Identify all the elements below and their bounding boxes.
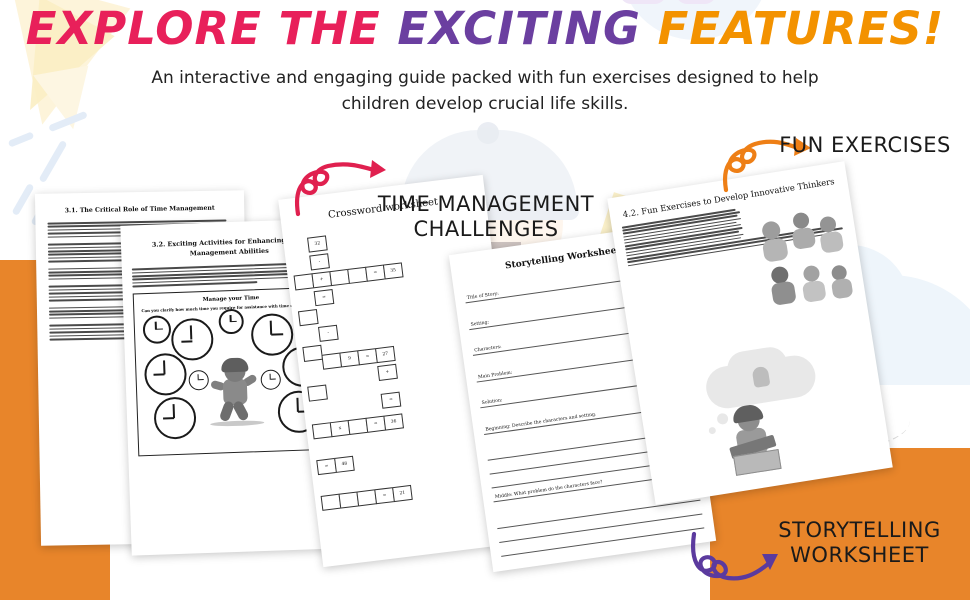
page-subtitle: An interactive and engaging guide packed… (115, 66, 855, 117)
doc-heading: 3.1. The Critical Role of Time Managemen… (47, 204, 232, 214)
clock-icon (260, 369, 281, 390)
dash-decor-2 (8, 131, 35, 147)
running-child-illustration (212, 360, 258, 423)
crossword-cell[interactable]: 27 (375, 346, 396, 363)
field-label: Characters: (474, 345, 502, 354)
thinking-child-illustration (687, 349, 852, 481)
title-segment-3: FEATURES! (658, 2, 945, 55)
clock-icon (218, 308, 244, 334)
callout-time-management: TIME MANAGEMENT CHALLENGES (350, 192, 622, 242)
crossword-cell[interactable]: 48 (334, 456, 355, 473)
crossword-cell[interactable]: 35 (383, 262, 404, 279)
clock-icon (144, 352, 187, 395)
dash-decor-4 (11, 183, 34, 216)
callout-fun-exercises: FUN EXERCISES (765, 133, 965, 158)
field-label: Solution: (481, 398, 502, 406)
clock-icon (250, 313, 293, 356)
crossword-cell[interactable]: = (381, 392, 402, 409)
crossword-cell[interactable] (302, 345, 323, 362)
crossword-cell[interactable] (298, 309, 319, 326)
kids-illustration-group (758, 206, 858, 314)
crossword-cell[interactable]: = (314, 289, 335, 306)
callout-storytelling: STORYTELLING WORKSHEET (752, 518, 967, 568)
dash-decor-1 (48, 111, 88, 132)
crossword-cell[interactable]: 36 (383, 413, 404, 430)
clock-icon (188, 370, 209, 391)
crossword-cell[interactable]: - (309, 253, 330, 270)
clock-icon (142, 315, 171, 344)
crossword-cell[interactable]: - (318, 325, 339, 342)
crossword-cell[interactable] (307, 384, 328, 401)
clock-icon (153, 396, 196, 439)
title-segment-1: EXPLORE THE (26, 2, 398, 55)
dash-decor-3 (38, 140, 67, 183)
field-label: Setting: (470, 320, 489, 328)
crossword-cell[interactable]: 32 (307, 235, 328, 252)
field-label: Beginning: Describe the characters and s… (485, 412, 597, 433)
field-label: Main Problem: (478, 370, 513, 380)
clock-icon (171, 317, 214, 360)
title-segment-2: EXCITING (397, 2, 657, 55)
crossword-cell[interactable]: 21 (392, 485, 413, 502)
promo-banner: EXPLORE THE EXCITING FEATURES! An intera… (0, 0, 970, 600)
crossword-cell[interactable]: + (377, 364, 398, 381)
document-page-fun-exercises[interactable]: 4.2. Fun Exercises to Develop Innovative… (607, 161, 893, 505)
page-title: EXPLORE THE EXCITING FEATURES! (0, 2, 970, 55)
field-label: Title of Story: (467, 292, 499, 301)
